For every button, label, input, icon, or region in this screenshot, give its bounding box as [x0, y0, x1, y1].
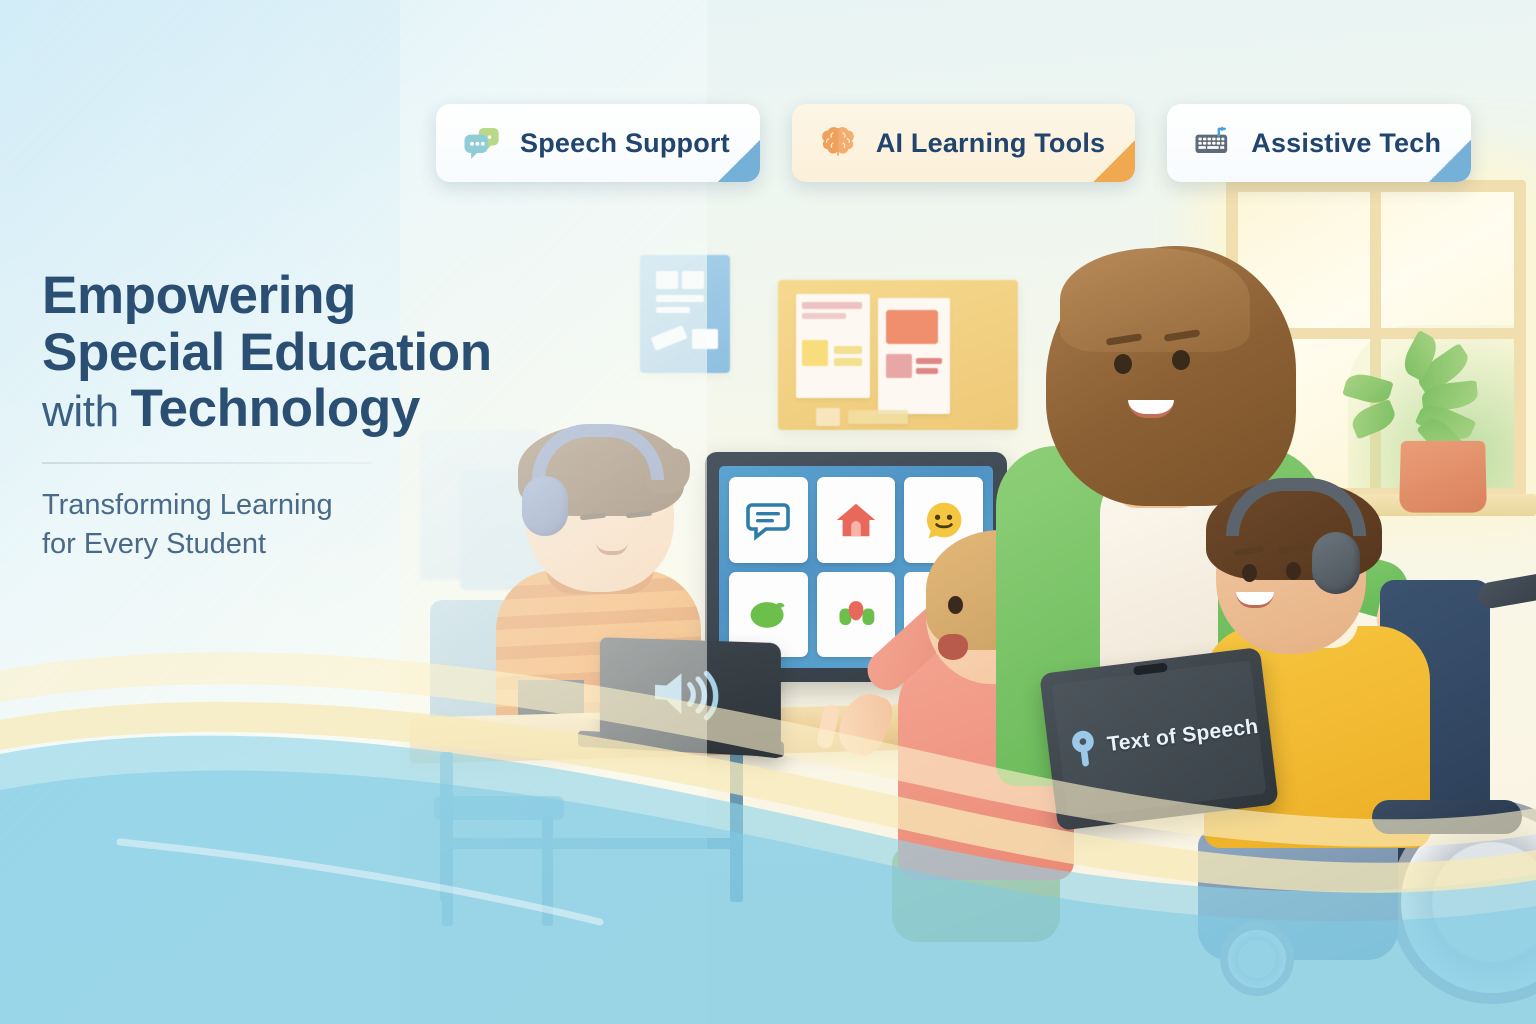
bulletin-paper [796, 294, 870, 398]
headline-line-1: Empowering [42, 268, 512, 325]
badge-folded-corner [718, 140, 760, 182]
badge-label: Speech Support [520, 128, 730, 159]
desk-leg [730, 752, 743, 902]
badge-label: AI Learning Tools [876, 128, 1105, 159]
subtitle-line-2: for Every Student [42, 525, 512, 564]
keyboard-icon [1193, 123, 1233, 163]
bulletin-paper [878, 298, 950, 414]
bulletin-paper [816, 408, 840, 426]
speech-bubbles-icon [462, 123, 502, 163]
speech-magnifier-icon [1067, 726, 1102, 769]
tablet-device[interactable]: Text of Speech [1039, 647, 1279, 831]
badge-folded-corner [1429, 140, 1471, 182]
badge-assistive-tech[interactable]: Assistive Tech [1167, 104, 1471, 182]
speech-bubble-icon [744, 496, 792, 544]
wheelchair-handle [1476, 568, 1536, 610]
headline-line-3: with Technology [42, 381, 512, 438]
badge-speech-support[interactable]: Speech Support [436, 104, 760, 182]
plant-leaves [1360, 336, 1510, 456]
green-blob-icon [746, 592, 790, 636]
wheelchair-caster [1220, 922, 1294, 996]
headphones-earcup [1312, 532, 1360, 594]
badge-label: Assistive Tech [1251, 128, 1441, 159]
headline-line-2: Special Education [42, 325, 512, 382]
feature-badge-row: Speech Support AI Learning Tools [436, 104, 1492, 182]
aac-card-speech-bubble[interactable] [729, 477, 808, 563]
tablet-label: Text of Speech [1106, 715, 1260, 757]
bulletin-paper [848, 410, 908, 424]
headline-technology-word: Technology [130, 379, 419, 438]
wheelchair-armrest [1372, 800, 1522, 834]
subtitle-line-1: Transforming Learning [42, 486, 512, 525]
badge-folded-corner [1093, 140, 1135, 182]
headline-divider [42, 462, 372, 464]
poster-canvas: Text of Speech Speech Support [0, 0, 1536, 1024]
headline-with-word: with [42, 387, 130, 436]
hero-text-block: Empowering Special Education with Techno… [42, 268, 512, 564]
brain-icon [818, 123, 858, 163]
badge-ai-learning-tools[interactable]: AI Learning Tools [792, 104, 1135, 182]
